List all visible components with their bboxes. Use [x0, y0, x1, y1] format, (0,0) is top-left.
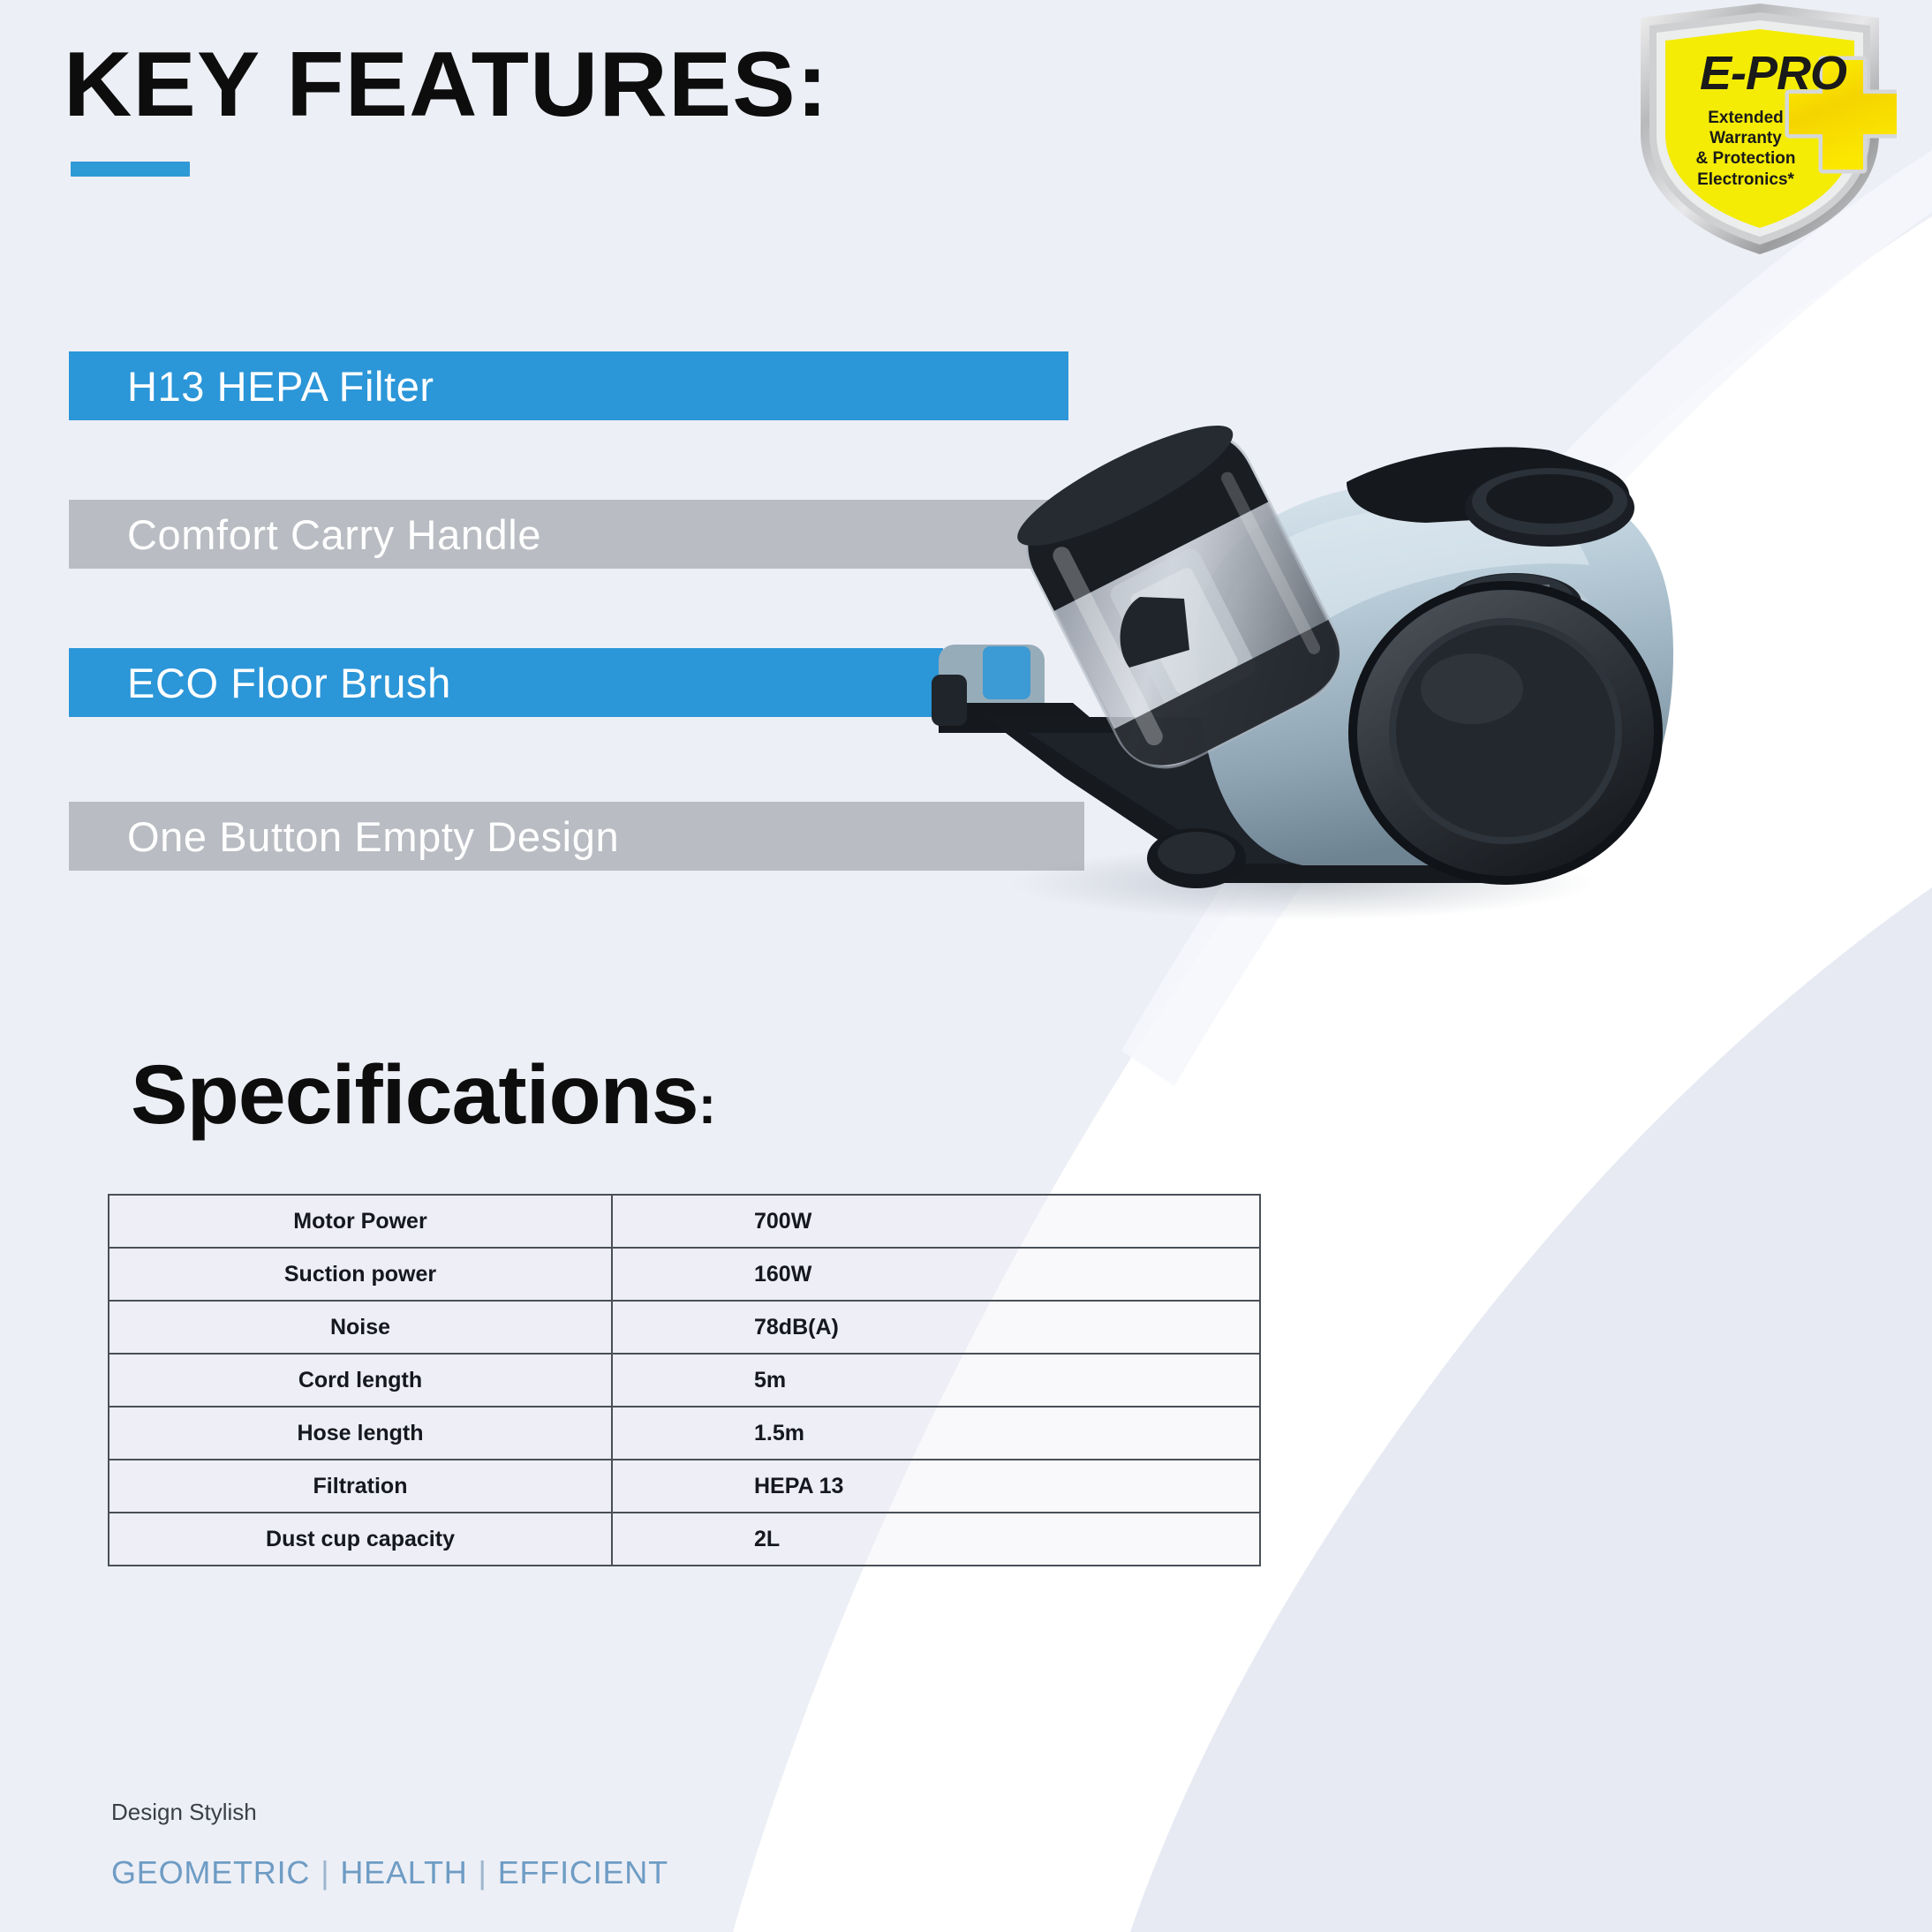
spec-key: Hose length [109, 1407, 612, 1460]
badge-description: Extended Warranty & Protection Electroni… [1662, 108, 1830, 190]
specifications-title-text: Specifications [131, 1048, 698, 1142]
title-underline-accent [71, 162, 190, 177]
spec-value: 5m [612, 1354, 1260, 1407]
table-row: Cord length 5m [109, 1354, 1260, 1407]
feature-bar-h13-hepa-filter[interactable]: H13 HEPA Filter [69, 351, 1068, 420]
table-row: Dust cup capacity 2L [109, 1513, 1260, 1566]
spec-key: Motor Power [109, 1195, 612, 1248]
feature-bar-label: Comfort Carry Handle [127, 510, 541, 559]
table-row: Noise 78dB(A) [109, 1301, 1260, 1354]
spec-key: Noise [109, 1301, 612, 1354]
spec-value: 1.5m [612, 1407, 1260, 1460]
spec-value: 2L [612, 1513, 1260, 1566]
spec-key: Suction power [109, 1248, 612, 1301]
tagline-health: HEALTH [340, 1854, 467, 1890]
badge-line: Warranty [1662, 128, 1830, 148]
tagline-geometric: GEOMETRIC [111, 1854, 310, 1890]
tagline: GEOMETRIC|HEALTH|EFFICIENT [111, 1854, 668, 1891]
spec-value: 700W [612, 1195, 1260, 1248]
infographic-page: KEY FEATURES: H13 HEPA Filter Comfort Ca… [0, 0, 1932, 1932]
badge-line: Electronics* [1662, 170, 1830, 190]
design-stylish-label: Design Stylish [111, 1799, 257, 1826]
spec-key: Cord length [109, 1354, 612, 1407]
product-image-vacuum-cleaner [932, 318, 1673, 936]
table-row: Motor Power 700W [109, 1195, 1260, 1248]
page-title: KEY FEATURES: [64, 37, 828, 133]
tagline-efficient: EFFICIENT [498, 1854, 668, 1890]
spec-value: HEPA 13 [612, 1460, 1260, 1513]
badge-line: & Protection [1662, 148, 1830, 169]
badge-line: Extended [1662, 108, 1830, 128]
table-row: Suction power 160W [109, 1248, 1260, 1301]
feature-bar-eco-floor-brush[interactable]: ECO Floor Brush [69, 648, 943, 717]
feature-bar-label: H13 HEPA Filter [127, 362, 434, 411]
spec-key: Dust cup capacity [109, 1513, 612, 1566]
feature-bar-label: ECO Floor Brush [127, 659, 451, 707]
specifications-table: Motor Power 700W Suction power 160W Nois… [108, 1194, 1261, 1566]
specifications-title-colon: : [698, 1075, 715, 1135]
feature-bar-label: One Button Empty Design [127, 812, 619, 861]
spec-key: Filtration [109, 1460, 612, 1513]
badge-brand-label: E-PRO [1685, 46, 1861, 101]
spec-value: 160W [612, 1248, 1260, 1301]
table-row: Filtration HEPA 13 [109, 1460, 1260, 1513]
epro-warranty-badge: E-PRO Extended Warranty & Protection Ele… [1623, 2, 1897, 258]
tagline-separator: | [310, 1854, 340, 1890]
tagline-separator: | [468, 1854, 498, 1890]
background-swoosh [0, 0, 1932, 1932]
spec-value: 78dB(A) [612, 1301, 1260, 1354]
specifications-title: Specifications: [131, 1047, 715, 1143]
table-row: Hose length 1.5m [109, 1407, 1260, 1460]
